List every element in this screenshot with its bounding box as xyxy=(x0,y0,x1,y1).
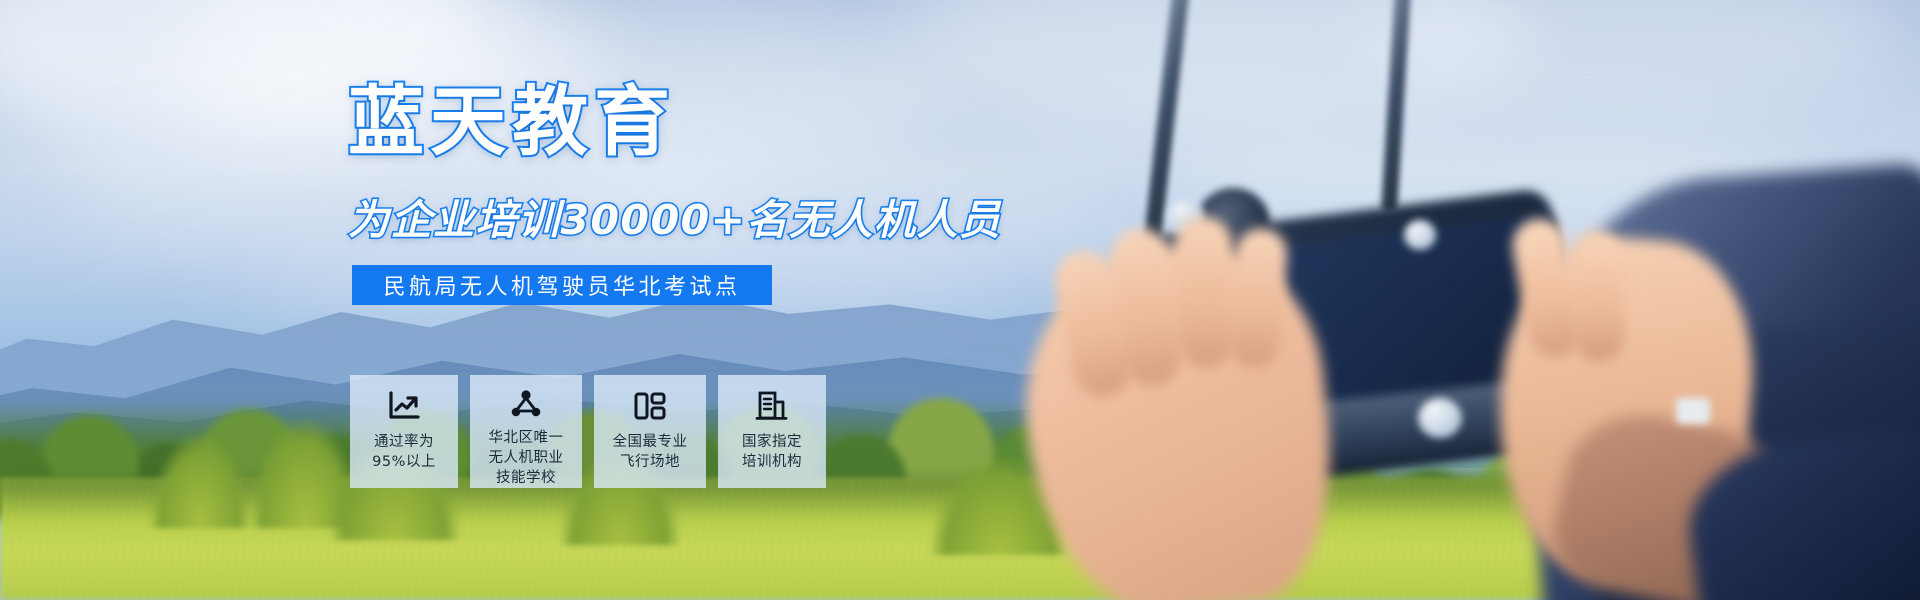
feature-card-label: 华北区唯一 无人机职业 技能学校 xyxy=(489,428,564,488)
feature-card-vocational-school[interactable]: 华北区唯一 无人机职业 技能学校 xyxy=(470,375,582,488)
feature-card-national-institution[interactable]: 国家指定 培训机构 xyxy=(718,375,826,488)
certification-badge-label: 民航局无人机驾驶员华北考试点 xyxy=(383,269,740,301)
feature-card-flight-field[interactable]: 全国最专业 飞行场地 xyxy=(594,375,706,488)
controller-stick xyxy=(1404,220,1436,250)
layout-grid-icon xyxy=(632,389,668,423)
certification-badge: 民航局无人机驾驶员华北考试点 xyxy=(352,265,772,305)
trending-up-chart-icon xyxy=(386,389,422,423)
feature-card-label: 全国最专业 飞行场地 xyxy=(613,432,688,472)
finger xyxy=(1227,226,1289,369)
drone-operator-foreground xyxy=(0,0,1920,600)
brand-subtitle: 为企业培训30000+名无人机人员 xyxy=(348,200,1002,241)
finger xyxy=(1173,215,1236,369)
brand-title: 蓝天教育 xyxy=(348,84,676,160)
feature-card-pass-rate[interactable]: 通过率为 95%以上 xyxy=(350,375,458,488)
hero-banner: 蓝天教育 为企业培训30000+名无人机人员 民航局无人机驾驶员华北考试点 通过… xyxy=(0,0,1920,600)
building-institution-icon xyxy=(754,389,790,423)
controller-antenna xyxy=(1381,0,1411,212)
feature-card-label: 国家指定 培训机构 xyxy=(742,432,802,472)
feature-card-list: 通过率为 95%以上 华北区唯一 无人机职业 技能学校 xyxy=(350,375,826,488)
controller-stick xyxy=(1418,398,1462,438)
wristwatch xyxy=(1676,398,1710,424)
finger xyxy=(1570,229,1627,363)
feature-card-label: 通过率为 95%以上 xyxy=(372,432,436,472)
network-hierarchy-icon xyxy=(508,389,544,419)
